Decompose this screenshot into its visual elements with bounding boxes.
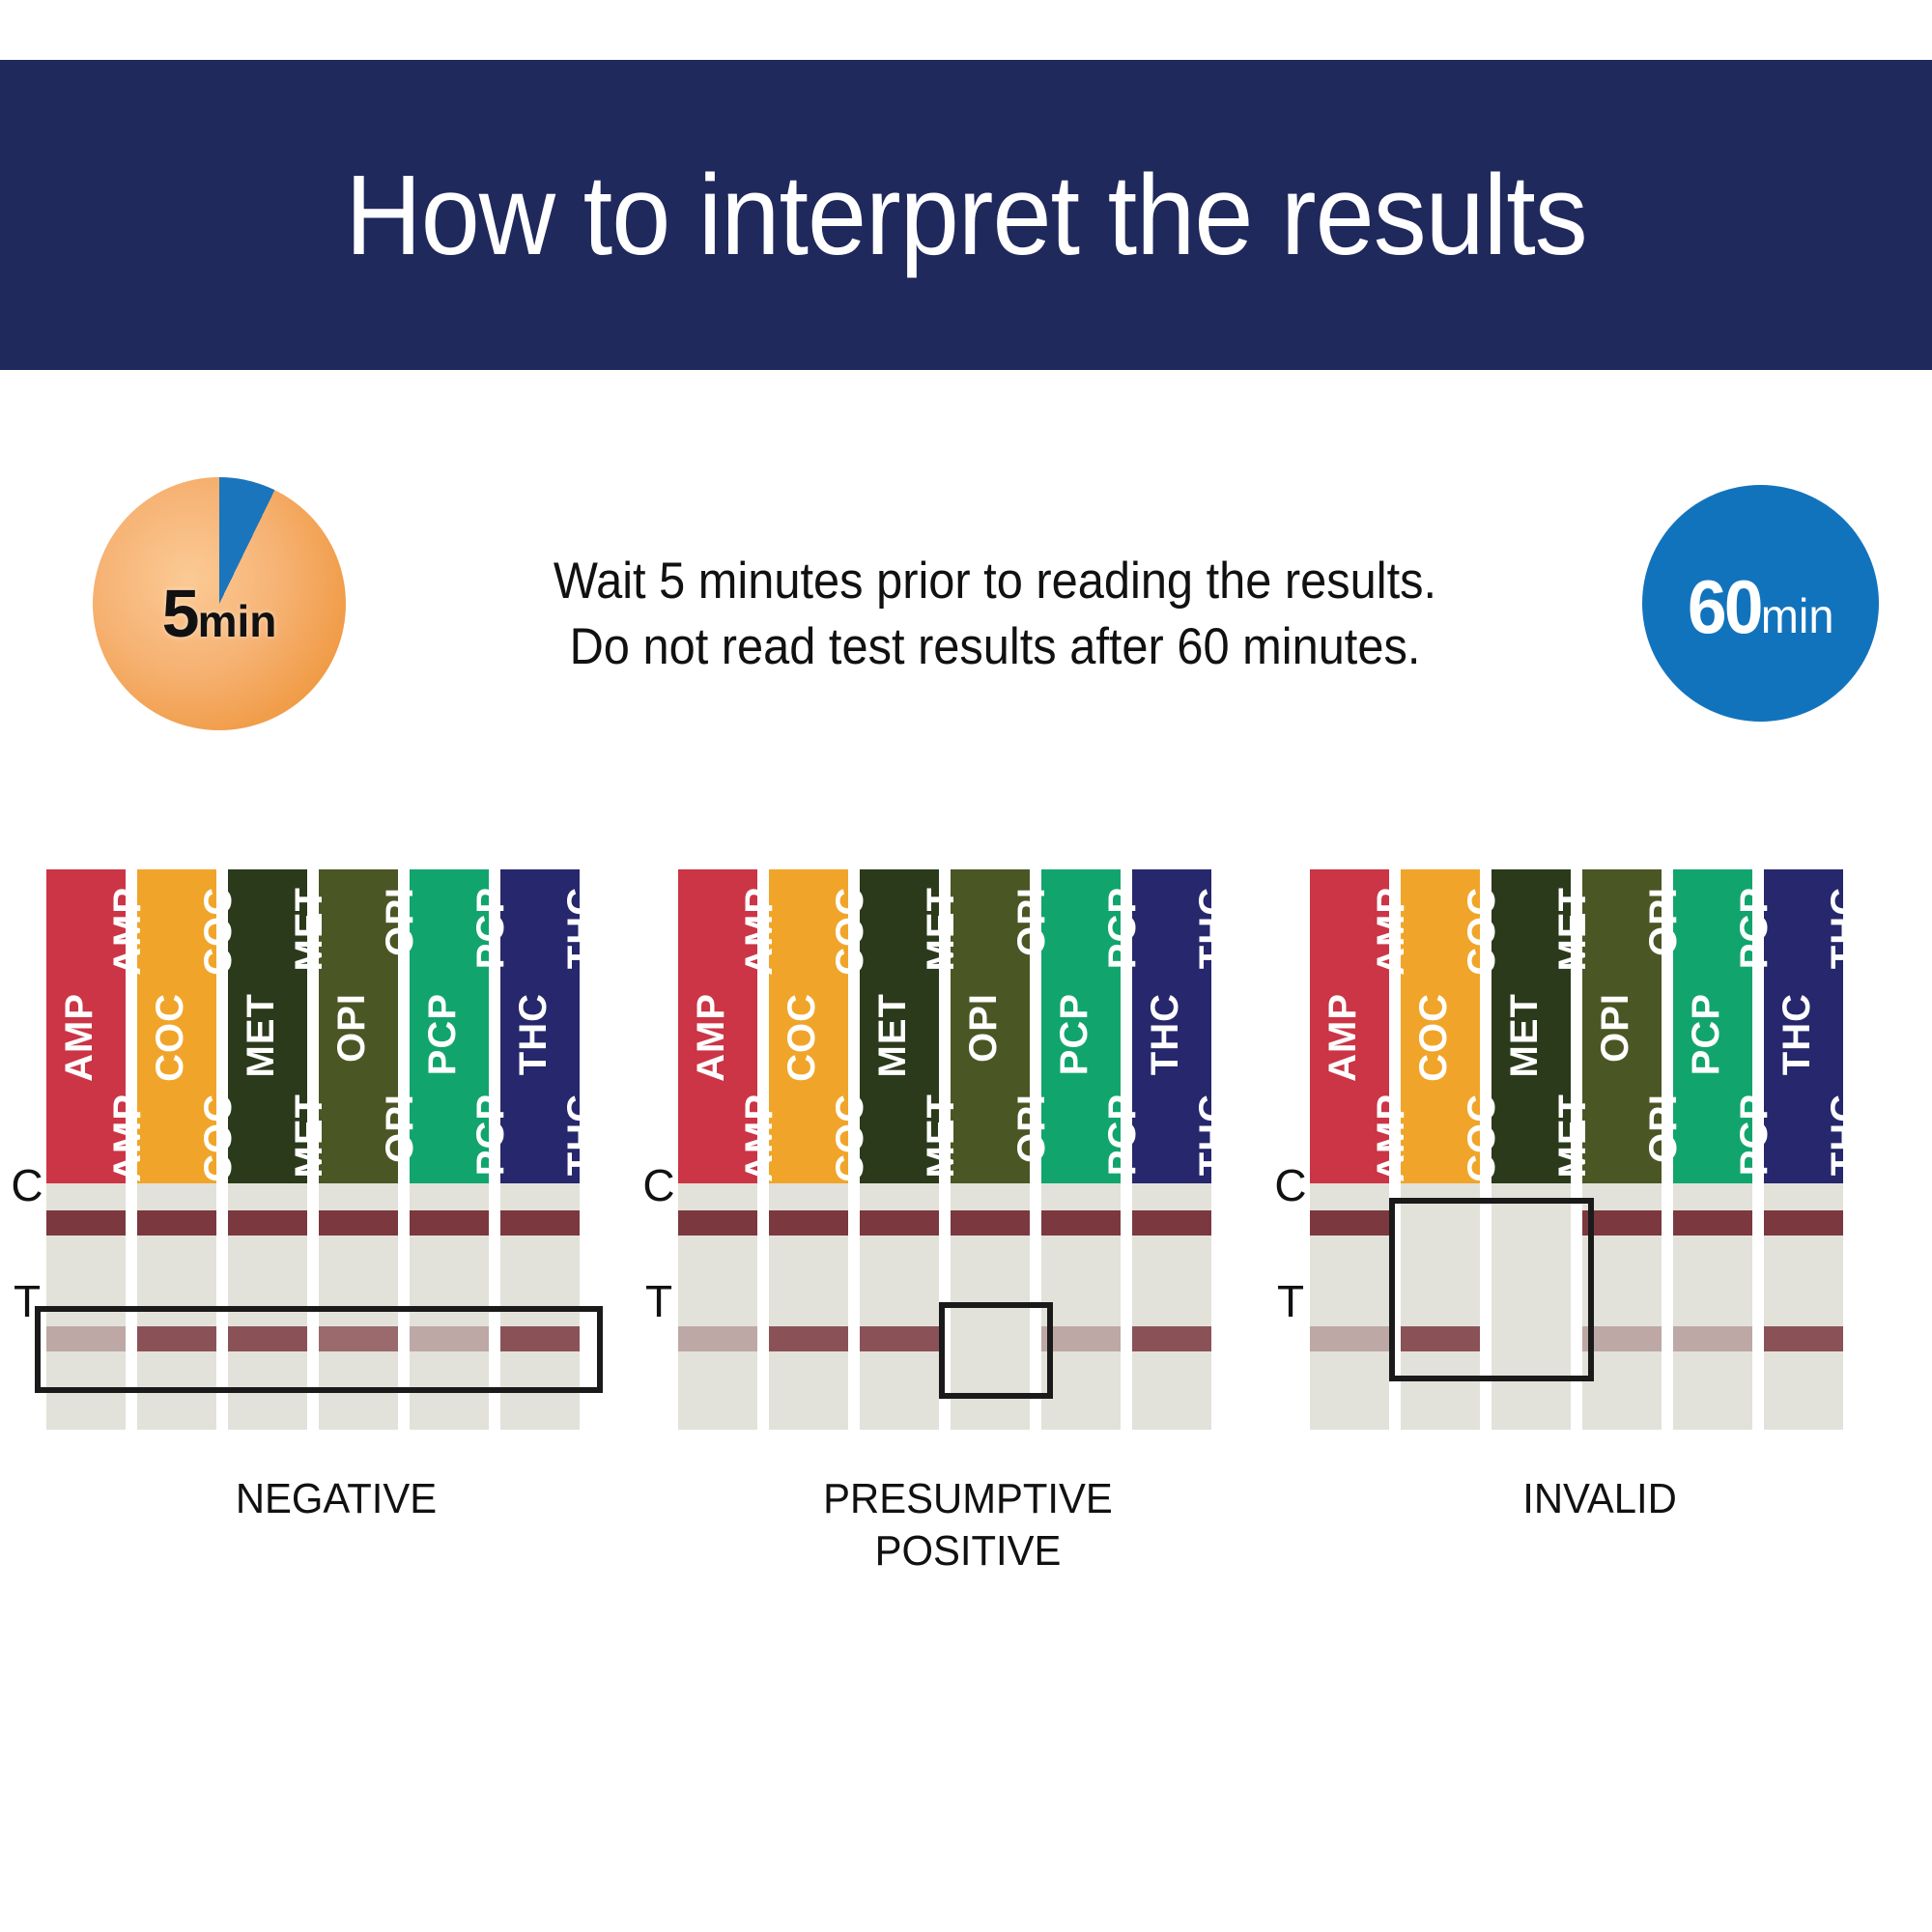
strip-color-cap: OPIOPIOPI xyxy=(951,869,1030,1183)
strip-result-window xyxy=(769,1183,848,1430)
test-line xyxy=(1582,1326,1662,1351)
strip-drug-label-main: THC xyxy=(1777,993,1816,1075)
test-strip-amp[interactable]: AMPAMPAMP xyxy=(1310,869,1389,1430)
test-line xyxy=(1041,1326,1121,1351)
test-line xyxy=(1132,1326,1211,1351)
strip-drug-label-edge-top: THC xyxy=(562,887,601,969)
strip-color-cap: THCTHCTHC xyxy=(1764,869,1843,1183)
control-line xyxy=(410,1210,489,1236)
strip-drug-label-edge-bottom: PCP xyxy=(1103,1094,1142,1176)
test-strip-met[interactable]: METMETMET xyxy=(860,869,939,1430)
5min-timer-icon: 5min xyxy=(93,477,346,730)
strip-drug-label-main: MET xyxy=(241,993,280,1077)
strip-drug-label-main: COC xyxy=(1414,993,1453,1082)
strip-drug-label-main: OPI xyxy=(332,993,371,1063)
strip-drug-label-edge-bottom: COC xyxy=(199,1094,238,1182)
panel-caption: PRESUMPTIVEPOSITIVE xyxy=(693,1473,1243,1577)
strip-drug-label-edge-bottom: MET xyxy=(1553,1094,1592,1178)
control-line xyxy=(500,1210,580,1236)
control-line xyxy=(678,1210,757,1236)
strip-color-cap: AMPAMPAMP xyxy=(678,869,757,1183)
test-line-label: T xyxy=(639,1275,678,1327)
strip-drug-label-main: THC xyxy=(1146,993,1184,1075)
strip-drug-label-main: THC xyxy=(514,993,553,1075)
strip-drug-label-edge-bottom: COC xyxy=(831,1094,869,1182)
strip-color-cap: THCTHCTHC xyxy=(500,869,580,1183)
strip-drug-label-main: MET xyxy=(1505,993,1544,1077)
strip-drug-label-edge-bottom: OPI xyxy=(1012,1094,1051,1163)
strip-color-cap: PCPPCPPCP xyxy=(410,869,489,1183)
strip-drug-label-edge-top: AMP xyxy=(108,887,147,976)
strip-drug-label-edge-bottom: PCP xyxy=(471,1094,510,1176)
strip-drug-label-edge-bottom: MET xyxy=(290,1094,328,1178)
strip-color-cap: COCCOCCOC xyxy=(1401,869,1480,1183)
strip-result-window xyxy=(1764,1183,1843,1430)
control-line xyxy=(1132,1210,1211,1236)
strip-drug-label-edge-bottom: PCP xyxy=(1735,1094,1774,1176)
strip-color-cap: METMETMET xyxy=(228,869,307,1183)
strip-drug-label-main: MET xyxy=(873,993,912,1077)
strip-drug-label-edge-bottom: AMP xyxy=(740,1094,779,1182)
highlight-box-test-cell xyxy=(939,1302,1053,1399)
strip-drug-label-main: AMP xyxy=(692,993,730,1082)
control-line xyxy=(1041,1210,1121,1236)
strip-color-cap: METMETMET xyxy=(1492,869,1571,1183)
strip-drug-label-edge-top: AMP xyxy=(740,887,779,976)
test-strip-thc[interactable]: THCTHCTHC xyxy=(1132,869,1211,1430)
strip-drug-label-edge-top: COC xyxy=(831,887,869,976)
strip-color-cap: METMETMET xyxy=(860,869,939,1183)
strip-drug-label-edge-top: MET xyxy=(1553,887,1592,971)
control-line-label: C xyxy=(1271,1159,1310,1211)
timing-row: 5min Wait 5 minutes prior to reading the… xyxy=(0,473,1932,782)
test-strip-pcp[interactable]: PCPPCPPCP xyxy=(1673,869,1752,1430)
strip-color-cap: AMPAMPAMP xyxy=(46,869,126,1183)
control-line xyxy=(951,1210,1030,1236)
strip-drug-label-edge-top: THC xyxy=(1826,887,1864,969)
strip-result-window xyxy=(860,1183,939,1430)
strip-drug-label-edge-top: COC xyxy=(199,887,238,976)
strip-color-cap: PCPPCPPCP xyxy=(1041,869,1121,1183)
strip-drug-label-edge-bottom: THC xyxy=(1194,1094,1233,1176)
test-strip-group: AMPAMPAMPCOCCOCCOCMETMETMETOPIOPIOPIPCPP… xyxy=(678,869,1258,1430)
control-line xyxy=(1582,1210,1662,1236)
test-strip-thc[interactable]: THCTHCTHC xyxy=(1764,869,1843,1430)
strip-result-window xyxy=(1673,1183,1752,1430)
test-line xyxy=(769,1326,848,1351)
5min-unit: min xyxy=(198,596,277,646)
test-strip-amp[interactable]: AMPAMPAMP xyxy=(678,869,757,1430)
strip-drug-label-edge-top: PCP xyxy=(471,887,510,969)
strip-drug-label-edge-top: OPI xyxy=(381,887,419,956)
control-line-label: C xyxy=(8,1159,46,1211)
60min-unit: min xyxy=(1761,589,1834,643)
panel-caption: INVALID xyxy=(1324,1473,1875,1525)
highlight-box-test-row xyxy=(35,1306,603,1393)
strip-result-window xyxy=(1041,1183,1121,1430)
strip-drug-label-edge-top: OPI xyxy=(1012,887,1051,956)
strip-color-cap: THCTHCTHC xyxy=(1132,869,1211,1183)
strip-color-cap: COCCOCCOC xyxy=(137,869,216,1183)
strip-drug-label-edge-bottom: AMP xyxy=(108,1094,147,1182)
result-panel-presumptive-positive: CTAMPAMPAMPCOCCOCCOCMETMETMETOPIOPIOPIPC… xyxy=(678,869,1258,1604)
instruction-text: Wait 5 minutes prior to reading the resu… xyxy=(462,549,1528,680)
strip-drug-label-main: OPI xyxy=(964,993,1003,1063)
strip-drug-label-edge-bottom: COC xyxy=(1463,1094,1501,1182)
test-line xyxy=(1764,1326,1843,1351)
test-line xyxy=(1310,1326,1389,1351)
strip-result-window xyxy=(1582,1183,1662,1430)
strip-drug-label-edge-top: MET xyxy=(290,887,328,971)
strip-color-cap: OPIOPIOPI xyxy=(1582,869,1662,1183)
result-panel-negative: CTAMPAMPAMPCOCCOCCOCMETMETMETOPIOPIOPIPC… xyxy=(46,869,626,1604)
test-line xyxy=(1673,1326,1752,1351)
control-line xyxy=(46,1210,126,1236)
control-line xyxy=(769,1210,848,1236)
test-strip-opi[interactable]: OPIOPIOPI xyxy=(1582,869,1662,1430)
test-strip-coc[interactable]: COCCOCCOC xyxy=(769,869,848,1430)
control-line-label: C xyxy=(639,1159,678,1211)
highlight-box-control-to-test xyxy=(1389,1198,1594,1381)
strip-color-cap: AMPAMPAMP xyxy=(1310,869,1389,1183)
strip-drug-label-main: PCP xyxy=(1687,993,1725,1075)
panel-caption-line: POSITIVE xyxy=(693,1525,1243,1577)
test-line-label: T xyxy=(1271,1275,1310,1327)
strip-drug-label-edge-bottom: MET xyxy=(922,1094,960,1178)
test-line xyxy=(860,1326,939,1351)
5min-value: 5 xyxy=(162,576,198,651)
strip-drug-label-edge-top: AMP xyxy=(1372,887,1410,976)
strip-drug-label-main: AMP xyxy=(1323,993,1362,1082)
test-strip-pcp[interactable]: PCPPCPPCP xyxy=(1041,869,1121,1430)
test-line xyxy=(678,1326,757,1351)
strip-drug-label-edge-top: COC xyxy=(1463,887,1501,976)
test-strip-group: AMPAMPAMPCOCCOCCOCMETMETMETOPIOPIOPIPCPP… xyxy=(46,869,626,1430)
test-strip-group: AMPAMPAMPCOCCOCCOCMETMETMETOPIOPIOPIPCPP… xyxy=(1310,869,1889,1430)
strip-color-cap: COCCOCCOC xyxy=(769,869,848,1183)
strip-drug-label-main: OPI xyxy=(1596,993,1634,1063)
strip-drug-label-edge-bottom: THC xyxy=(1826,1094,1864,1176)
control-line xyxy=(860,1210,939,1236)
strip-drug-label-edge-bottom: AMP xyxy=(1372,1094,1410,1182)
strip-result-window xyxy=(1310,1183,1389,1430)
control-line xyxy=(1764,1210,1843,1236)
strip-drug-label-edge-top: OPI xyxy=(1644,887,1683,956)
ct-axis-labels: CT xyxy=(1271,869,1310,1430)
strip-drug-label-edge-top: MET xyxy=(922,887,960,971)
60min-value: 60 xyxy=(1688,564,1761,649)
control-line xyxy=(319,1210,398,1236)
strip-drug-label-edge-top: PCP xyxy=(1103,887,1142,969)
panel-caption-line: NEGATIVE xyxy=(61,1473,611,1525)
strip-drug-label-edge-bottom: OPI xyxy=(1644,1094,1683,1163)
strip-drug-label-edge-top: THC xyxy=(1194,887,1233,969)
strip-drug-label-main: AMP xyxy=(60,993,99,1082)
panel-caption: NEGATIVE xyxy=(61,1473,611,1525)
strip-drug-label-edge-top: PCP xyxy=(1735,887,1774,969)
5min-timer-label: 5min xyxy=(162,575,277,652)
strip-result-window xyxy=(678,1183,757,1430)
control-line xyxy=(1310,1210,1389,1236)
strip-color-cap: OPIOPIOPI xyxy=(319,869,398,1183)
strip-drug-label-main: COC xyxy=(782,993,821,1082)
strip-result-window xyxy=(1132,1183,1211,1430)
strip-drug-label-main: PCP xyxy=(423,993,462,1075)
control-line xyxy=(137,1210,216,1236)
strip-color-cap: PCPPCPPCP xyxy=(1673,869,1752,1183)
result-panel-invalid: CTAMPAMPAMPCOCCOCCOCMETMETMETOPIOPIOPIPC… xyxy=(1310,869,1889,1604)
page-title: How to interpret the results xyxy=(345,158,1586,272)
panel-caption-line: PRESUMPTIVE xyxy=(693,1473,1243,1525)
strip-drug-label-main: PCP xyxy=(1055,993,1094,1075)
60min-timer-label: 60min xyxy=(1688,563,1834,651)
panel-caption-line: INVALID xyxy=(1324,1473,1875,1525)
strip-drug-label-edge-bottom: THC xyxy=(562,1094,601,1176)
strip-drug-label-main: COC xyxy=(151,993,189,1082)
header-bar: How to interpret the results xyxy=(0,60,1932,370)
instruction-line-1: Wait 5 minutes prior to reading the resu… xyxy=(462,549,1528,614)
instruction-line-2: Do not read test results after 60 minute… xyxy=(462,614,1528,680)
control-line xyxy=(1673,1210,1752,1236)
control-line xyxy=(228,1210,307,1236)
60min-timer-icon: 60min xyxy=(1642,485,1879,722)
ct-axis-labels: CT xyxy=(639,869,678,1430)
strip-drug-label-edge-bottom: OPI xyxy=(381,1094,419,1163)
